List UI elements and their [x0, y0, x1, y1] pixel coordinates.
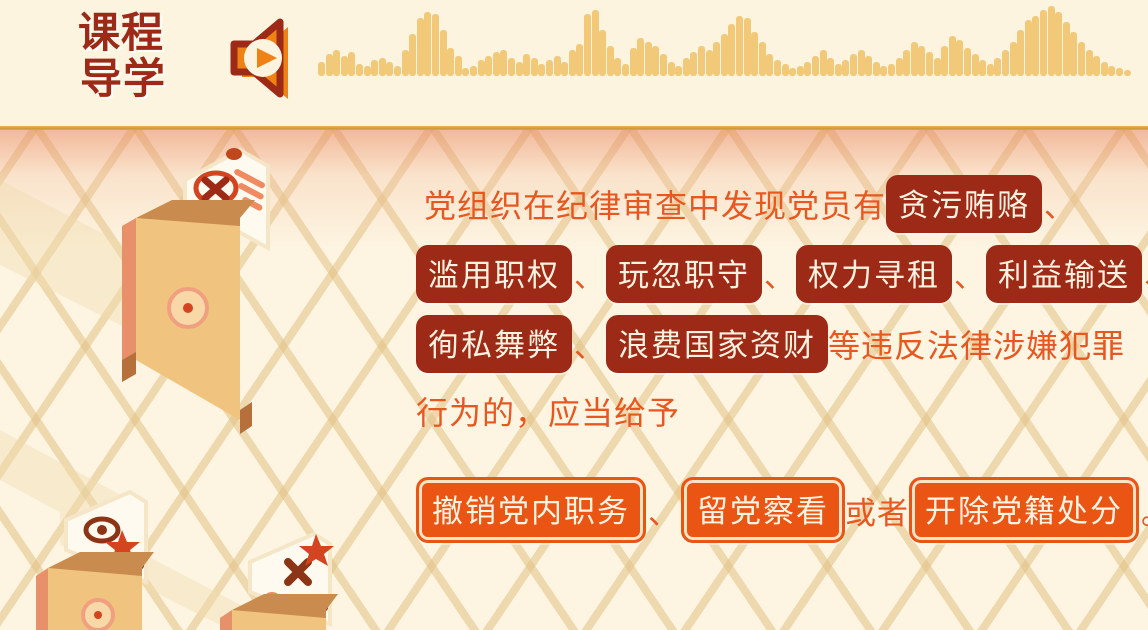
waveform-bar — [386, 62, 393, 76]
waveform-bar — [531, 58, 538, 76]
waveform-bar — [1078, 42, 1085, 76]
waveform-bar — [364, 66, 371, 76]
waveform-bar — [759, 42, 766, 76]
waveform-bar — [903, 50, 910, 76]
waveform-bar — [675, 66, 682, 76]
waveform-bar — [842, 60, 849, 76]
waveform-bar — [462, 68, 469, 76]
waveform-bar — [478, 60, 485, 76]
waveform-bar — [409, 34, 416, 76]
waveform-bar — [1070, 32, 1077, 76]
waveform-bar — [576, 44, 583, 76]
waveform-bar — [371, 60, 378, 76]
waveform-bar — [668, 62, 675, 76]
punctuation: 、 — [1042, 182, 1076, 226]
highlight-tag-orange[interactable]: 留党察看 — [681, 477, 845, 543]
punctuation: 、 — [572, 322, 606, 366]
waveform-bar — [683, 58, 690, 76]
waveform-bar — [820, 50, 827, 76]
highlight-tag-red[interactable]: 徇私舞弊 — [416, 315, 572, 373]
waveform-bar — [812, 56, 819, 76]
waveform-bar — [554, 56, 561, 76]
waveform-bar — [356, 64, 363, 76]
plain-text: 或者 — [845, 488, 909, 533]
waveform-bar — [630, 48, 637, 76]
waveform-bar — [1063, 22, 1070, 76]
folder-2 — [36, 492, 154, 630]
waveform-bar — [584, 14, 591, 76]
waveform-bar — [1055, 12, 1062, 76]
waveform-bar — [926, 52, 933, 76]
waveform-bar — [508, 58, 515, 76]
logo-line-1: 课程 — [78, 10, 164, 56]
waveform-bar — [622, 64, 629, 76]
waveform-bar — [736, 16, 743, 76]
punctuation: 、 — [952, 252, 986, 296]
waveform-bar — [1002, 50, 1009, 76]
waveform-bar — [918, 46, 925, 76]
waveform-bar — [485, 56, 492, 76]
paragraph-block: 党组织在纪律审查中发现党员有 贪污贿赂、滥用职权、玩忽职守、权力寻租、利益输送、… — [416, 175, 1076, 555]
waveform-bar — [911, 42, 918, 76]
waveform-bar — [1048, 6, 1055, 76]
waveform-bar — [592, 10, 599, 76]
line-2: 滥用职权、玩忽职守、权力寻租、利益输送、 — [416, 245, 1076, 303]
waveform-bar — [706, 50, 713, 76]
punctuation: 、 — [1142, 252, 1148, 296]
plain-text: 等违反法律涉嫌犯罪 — [828, 321, 1125, 367]
waveform-bar — [614, 58, 621, 76]
waveform-bar — [994, 58, 1001, 76]
waveform-bar — [523, 54, 530, 76]
line-4: 行为的，应当给予 — [416, 385, 1076, 437]
slide-canvas: 课程 导学 — [0, 0, 1148, 630]
waveform-bar — [493, 52, 500, 76]
speaker-play-icon[interactable] — [208, 14, 300, 102]
punctuation: 、 — [646, 488, 681, 533]
highlight-tag-orange[interactable]: 撤销党内职务 — [416, 477, 646, 543]
punctuation: 、 — [572, 252, 606, 296]
waveform-bar — [652, 46, 659, 76]
waveform-bar — [455, 56, 462, 76]
waveform-bar — [447, 48, 454, 76]
waveform-bar — [865, 56, 872, 76]
waveform-bar — [766, 54, 773, 76]
waveform-bar — [607, 46, 614, 76]
waveform-bar — [690, 52, 697, 76]
waveform-bar — [1101, 62, 1108, 76]
waveform-bar — [888, 64, 895, 76]
waveform-bar — [835, 64, 842, 76]
waveform-bar — [789, 68, 796, 76]
waveform-bar — [858, 50, 865, 76]
waveform-bar — [896, 58, 903, 76]
waveform-bar — [599, 30, 606, 76]
highlight-tag-red[interactable]: 玩忽职守 — [606, 245, 762, 303]
isometric-folders-illustration — [0, 130, 400, 630]
waveform-bar — [956, 40, 963, 76]
waveform-bar — [326, 54, 333, 76]
waveform-bar — [538, 64, 545, 76]
waveform-bar — [417, 18, 424, 76]
waveform-bar — [972, 54, 979, 76]
highlight-tag-orange[interactable]: 开除党籍处分 — [909, 477, 1139, 543]
waveform-bar — [500, 50, 507, 76]
waveform-bar — [1025, 20, 1032, 76]
waveform-bar — [1086, 50, 1093, 76]
waveform-bar — [348, 52, 355, 76]
waveform-bar — [949, 36, 956, 76]
waveform-bar — [516, 62, 523, 76]
waveform-bar — [804, 62, 811, 76]
waveform-bar — [432, 14, 439, 76]
waveform-bar — [645, 42, 652, 76]
waveform-bar — [987, 64, 994, 76]
waveform-bar — [424, 12, 431, 76]
plain-text: 行为的，应当给予 — [416, 388, 680, 434]
highlight-tag-red[interactable]: 权力寻租 — [796, 245, 952, 303]
waveform-bar — [713, 42, 720, 76]
waveform-bar — [1032, 16, 1039, 76]
waveform-bar — [546, 60, 553, 76]
highlight-tag-red[interactable]: 利益输送 — [986, 245, 1142, 303]
waveform-bar — [394, 66, 401, 76]
waveform-bar — [660, 54, 667, 76]
waveform-bar — [782, 64, 789, 76]
waveform-bar — [1124, 70, 1131, 76]
waveform-bar — [880, 66, 887, 76]
waveform-bar — [333, 50, 340, 76]
waveform-bar — [1093, 56, 1100, 76]
plain-text: 党组织在纪律审查中发现党员有 — [424, 181, 886, 227]
waveform-bar — [341, 56, 348, 76]
waveform-bar — [934, 58, 941, 76]
highlight-tag-red[interactable]: 浪费国家资财 — [606, 315, 828, 373]
waveform-bar — [774, 60, 781, 76]
line-1: 党组织在纪律审查中发现党员有 贪污贿赂、 — [416, 175, 1076, 233]
waveform-bar — [1017, 30, 1024, 76]
waveform-bar — [827, 58, 834, 76]
waveform-bar — [751, 32, 758, 76]
waveform-bar — [873, 62, 880, 76]
course-guide-logo: 课程 导学 — [78, 8, 194, 104]
waveform-bar — [721, 34, 728, 76]
folder-1 — [122, 148, 268, 434]
waveform-bar — [569, 50, 576, 76]
waveform-bar — [561, 62, 568, 76]
waveform-bar — [402, 50, 409, 76]
waveform-bar — [318, 62, 325, 76]
waveform-bar — [1108, 66, 1115, 76]
waveform-bar — [797, 66, 804, 76]
line-3: 徇私舞弊、浪费国家资财 等违反法律涉嫌犯罪 — [416, 315, 1076, 373]
punctuation: 、 — [762, 252, 796, 296]
header-bar: 课程 导学 — [0, 0, 1148, 130]
waveform-bar — [379, 58, 386, 76]
waveform-bar — [470, 66, 477, 76]
folder-3 — [220, 534, 338, 630]
waveform-bar — [728, 24, 735, 76]
waveform-bar — [850, 54, 857, 76]
waveform-bar — [1040, 10, 1047, 76]
logo-line-2: 导学 — [80, 56, 166, 102]
waveform-bar — [1116, 68, 1123, 76]
waveform-bar — [979, 60, 986, 76]
punctuation: 。 — [1139, 488, 1148, 533]
waveform-bar — [964, 48, 971, 76]
waveform-bar — [440, 30, 447, 76]
highlight-tag-red[interactable]: 滥用职权 — [416, 245, 572, 303]
waveform-bar — [744, 18, 751, 76]
highlight-tag-red[interactable]: 贪污贿赂 — [886, 175, 1042, 233]
waveform-bar — [1010, 42, 1017, 76]
waveform-bar — [941, 46, 948, 76]
audio-waveform — [318, 6, 1138, 76]
content-area: 党组织在纪律审查中发现党员有 贪污贿赂、滥用职权、玩忽职守、权力寻租、利益输送、… — [0, 130, 1148, 630]
line-5: 撤销党内职务、留党察看 或者 开除党籍处分。 — [416, 477, 1076, 543]
waveform-bar — [637, 38, 644, 76]
waveform-bar — [698, 46, 705, 76]
